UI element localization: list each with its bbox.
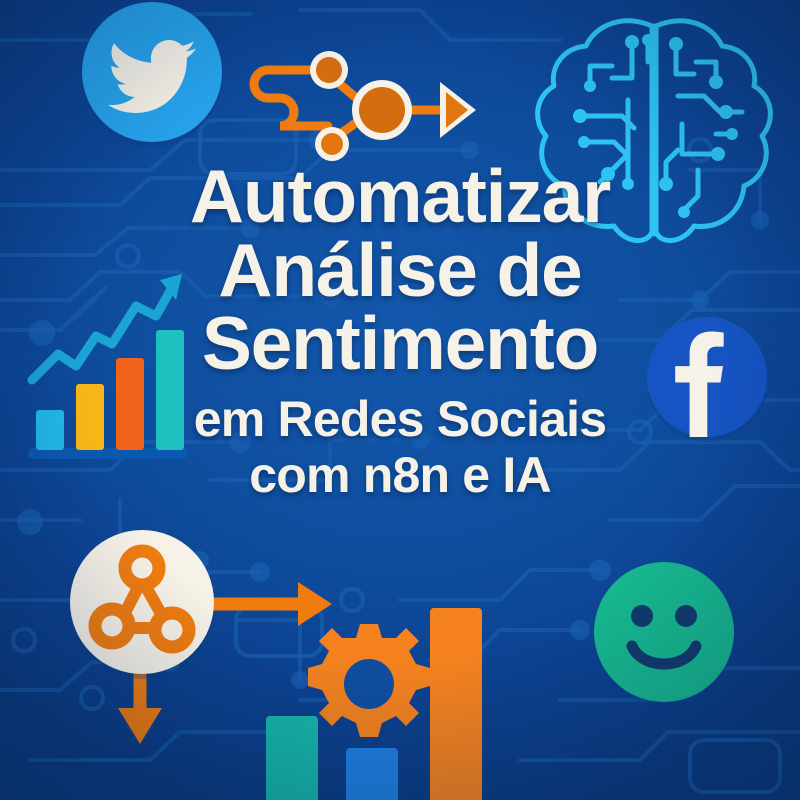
headline-block: Automatizar Análise de Sentimento em Red… — [0, 160, 800, 503]
page-subtitle: em Redes Sociais com n8n e IA — [120, 391, 680, 503]
page-title: Automatizar Análise de Sentimento — [120, 160, 680, 381]
title-line-3: Sentimento — [120, 307, 680, 381]
subtitle-line-2: com n8n e IA — [120, 447, 680, 503]
title-line-1: Automatizar — [120, 160, 680, 234]
title-line-2: Análise de — [120, 234, 680, 308]
poster-canvas: Automatizar Análise de Sentimento em Red… — [0, 0, 800, 800]
subtitle-line-1: em Redes Sociais — [120, 391, 680, 447]
twitter-logo-icon — [76, 0, 228, 148]
gear-bar-chart-icon — [258, 588, 520, 800]
smiley-face-icon — [588, 556, 740, 708]
